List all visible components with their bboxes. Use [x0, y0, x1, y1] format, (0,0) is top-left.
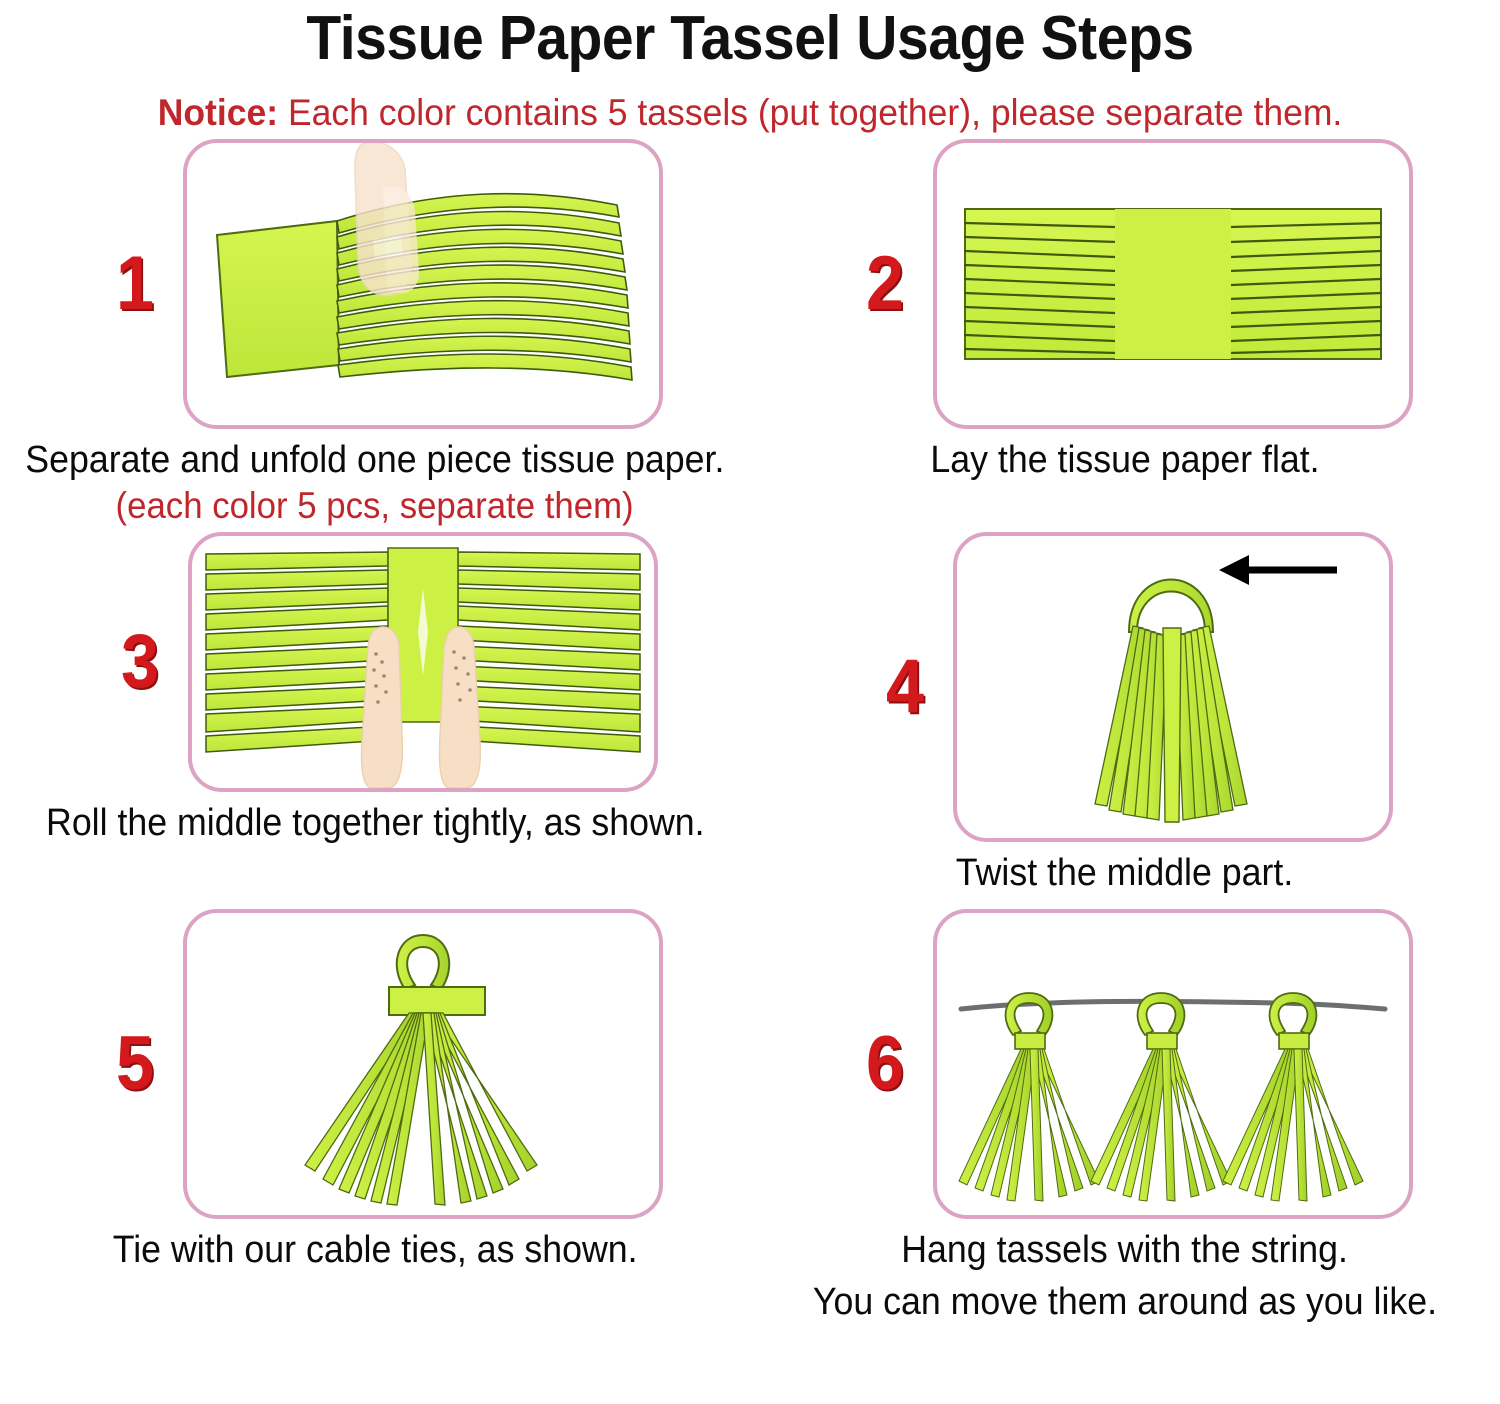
- step-row-3: 5: [0, 909, 1500, 1324]
- step-panel-2: [933, 139, 1413, 429]
- step-cell-6: 6: [750, 909, 1500, 1324]
- step-caption-6: Hang tassels with the string.: [902, 1229, 1349, 1272]
- hands-rolling-middle-illustration: [192, 536, 654, 788]
- step-number-5: 5: [92, 1026, 178, 1102]
- step-number-6: 6: [842, 1026, 928, 1102]
- step-caption-2: Lay the tissue paper flat.: [930, 439, 1319, 482]
- step-cell-2: 2: [750, 139, 1500, 526]
- cable-tie: [389, 987, 485, 1015]
- step-panel-6: [933, 909, 1413, 1219]
- step-number-1: 1: [92, 246, 178, 322]
- folded-tassel-with-loop-and-arrow-illustration: [957, 536, 1389, 838]
- steps-grid: 1: [0, 139, 1500, 1324]
- notice-label: Notice:: [158, 92, 278, 133]
- step-cell-3: 3: [0, 532, 750, 895]
- step-number-4: 4: [862, 649, 948, 725]
- page-title: Tissue Paper Tassel Usage Steps: [60, 0, 1440, 70]
- pointer-arrow-icon: [1219, 555, 1337, 585]
- notice-text: Each color contains 5 tassels (put toget…: [278, 92, 1342, 133]
- tassel-tied-with-cable-tie-illustration: [187, 913, 659, 1215]
- step-number-3: 3: [97, 624, 183, 700]
- step-panel-4: [953, 532, 1393, 842]
- step-panel-3: [188, 532, 658, 792]
- step-caption-5: Tie with our cable ties, as shown.: [113, 1229, 638, 1272]
- step-caption-6-line2: You can move them around as you like.: [813, 1281, 1437, 1324]
- tassel-1: [959, 993, 1099, 1201]
- step-caption-sub-1: (each color 5 pcs, separate them): [116, 486, 634, 527]
- step-caption-1: Separate and unfold one piece tissue pap…: [25, 439, 724, 482]
- step-cell-1: 1: [0, 139, 750, 526]
- step-caption-3: Roll the middle together tightly, as sho…: [46, 802, 705, 845]
- step-caption-4: Twist the middle part.: [956, 852, 1294, 895]
- tissue-laid-flat-with-fringe-illustration: [937, 143, 1409, 425]
- tassel-2: [1091, 993, 1231, 1201]
- step-row-2: 3: [0, 532, 1500, 895]
- step-cell-5: 5: [0, 909, 750, 1324]
- step-panel-5: [183, 909, 663, 1219]
- step-cell-4: 4: [750, 532, 1500, 895]
- step-number-2: 2: [842, 246, 928, 322]
- three-tassels-hanging-on-string-illustration: [937, 913, 1409, 1215]
- step-panel-1: [183, 139, 663, 429]
- tassel-3: [1223, 993, 1363, 1201]
- step-row-1: 1: [0, 139, 1500, 526]
- notice-banner: Notice: Each color contains 5 tassels (p…: [30, 94, 1470, 131]
- fringed-tissue-held-in-hand-illustration: [187, 143, 659, 425]
